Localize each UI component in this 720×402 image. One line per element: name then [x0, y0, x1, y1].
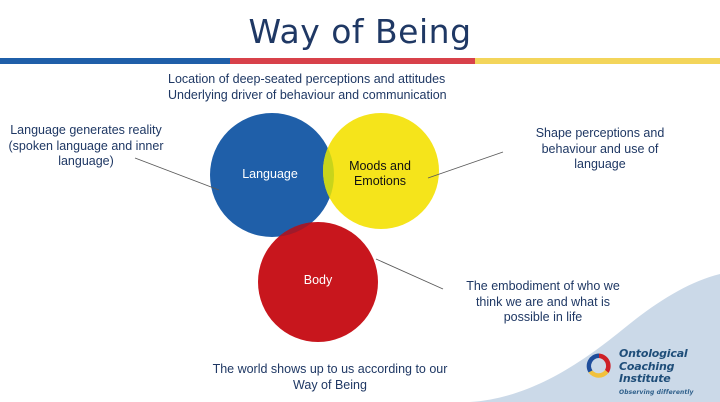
- connector-right: [428, 152, 503, 178]
- venn-diagram: [0, 0, 720, 402]
- logo-line-2: Coaching Institute: [619, 361, 715, 386]
- ontological-triangle-icon: [583, 350, 615, 382]
- venn-label-body: Body: [268, 273, 368, 288]
- note-right-line1: Shape perceptions and: [508, 126, 692, 142]
- note-bottom-right-line3: possible in life: [448, 310, 638, 326]
- note-left-line1: Language generates reality: [0, 123, 172, 139]
- note-bottom: The world shows up to us according to ou…: [180, 362, 480, 393]
- logo: Ontological Coaching Institute Observing…: [583, 348, 713, 388]
- note-top-line2: Underlying driver of behaviour and commu…: [168, 88, 488, 104]
- slide-canvas: Way of Being: [0, 0, 720, 402]
- note-left-line2: (spoken language and inner: [0, 139, 172, 155]
- note-bottom-line2: Way of Being: [180, 378, 480, 394]
- venn-label-language: Language: [215, 167, 325, 182]
- note-right: Shape perceptions and behaviour and use …: [508, 126, 692, 173]
- venn-label-moods-line2: Emotions: [330, 174, 430, 189]
- logo-line-1: Ontological: [619, 348, 715, 361]
- connector-bottom-right: [376, 259, 443, 289]
- note-right-line3: language: [508, 157, 692, 173]
- note-right-line2: behaviour and use of: [508, 142, 692, 158]
- note-bottom-line1: The world shows up to us according to ou…: [180, 362, 480, 378]
- note-top-line1: Location of deep-seated perceptions and …: [168, 72, 488, 88]
- note-left-line3: language): [0, 154, 172, 170]
- venn-label-moods: Moods and Emotions: [330, 159, 430, 189]
- note-bottom-right-line2: think we are and what is: [448, 295, 638, 311]
- note-left: Language generates reality (spoken langu…: [0, 123, 172, 170]
- note-bottom-right-line1: The embodiment of who we: [448, 279, 638, 295]
- logo-tagline: Observing differently: [619, 388, 715, 397]
- logo-text: Ontological Coaching Institute Observing…: [619, 348, 715, 397]
- note-bottom-right: The embodiment of who we think we are an…: [448, 279, 638, 326]
- note-top: Location of deep-seated perceptions and …: [168, 72, 488, 103]
- venn-label-moods-line1: Moods and: [330, 159, 430, 174]
